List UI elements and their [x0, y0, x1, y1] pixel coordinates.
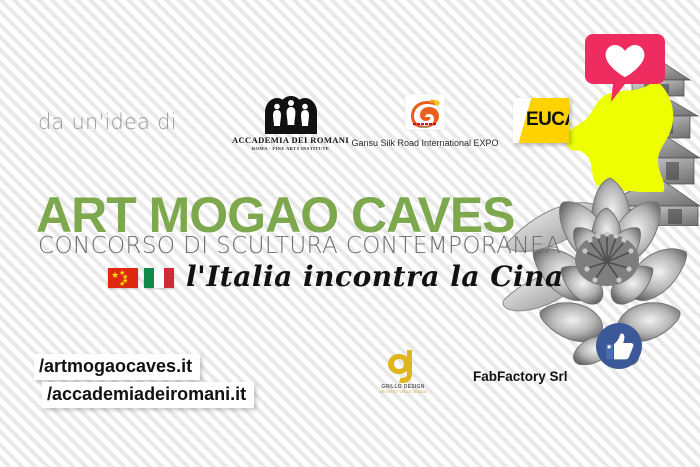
url-accademiadeiromani[interactable]: /accademiadeiromani.it	[42, 382, 254, 408]
pagoda-icon	[612, 58, 700, 226]
organizers-row: da un'idea di ACCA	[38, 100, 598, 156]
url-artmogaocaves[interactable]: /artmogaocaves.it	[34, 354, 200, 380]
gansu-swirl-icon	[350, 94, 500, 136]
logo-accademia-name: ACCADEMIA DEI ROMANI	[228, 135, 353, 145]
grillo-g-icon	[372, 350, 434, 383]
logo-accademia-subtitle: ROMA - FINE ARTS INSTITUTE	[228, 146, 353, 151]
euca-square-icon: EUCA	[513, 98, 569, 143]
page-subtitle: CONCORSO DI SCULTURA CONTEMPORANEA	[38, 233, 561, 259]
credit-label: da un'idea di	[38, 110, 177, 134]
logo-grillo-subtitle: ARCHITETTURA E DESIGN	[372, 390, 434, 394]
logo-accademia-dei-romani: ACCADEMIA DEI ROMANI ROMA - FINE ARTS IN…	[228, 96, 353, 151]
promo-banner: da un'idea di ACCA	[0, 0, 700, 467]
euca-label: EUCA	[526, 109, 569, 131]
logo-gansu-caption: Gansu Silk Road International EXPO	[350, 138, 500, 148]
logo-fabfactory: FabFactory Srl	[473, 369, 568, 384]
logo-gansu-silk-road: Gansu Silk Road International EXPO	[350, 94, 500, 148]
facebook-thumbs-up-icon[interactable]	[595, 322, 643, 370]
italy-flag-icon	[144, 268, 174, 288]
logo-grillo-design: GRILLO DESIGN ARCHITETTURA E DESIGN	[372, 350, 434, 394]
heart-speech-bubble-icon	[585, 30, 665, 102]
three-figures-arches-icon	[228, 96, 353, 134]
china-flag-icon: ★ ★ ★ ★ ★	[108, 268, 138, 288]
tagline-text: l'Italia incontra la Cina	[186, 260, 564, 293]
